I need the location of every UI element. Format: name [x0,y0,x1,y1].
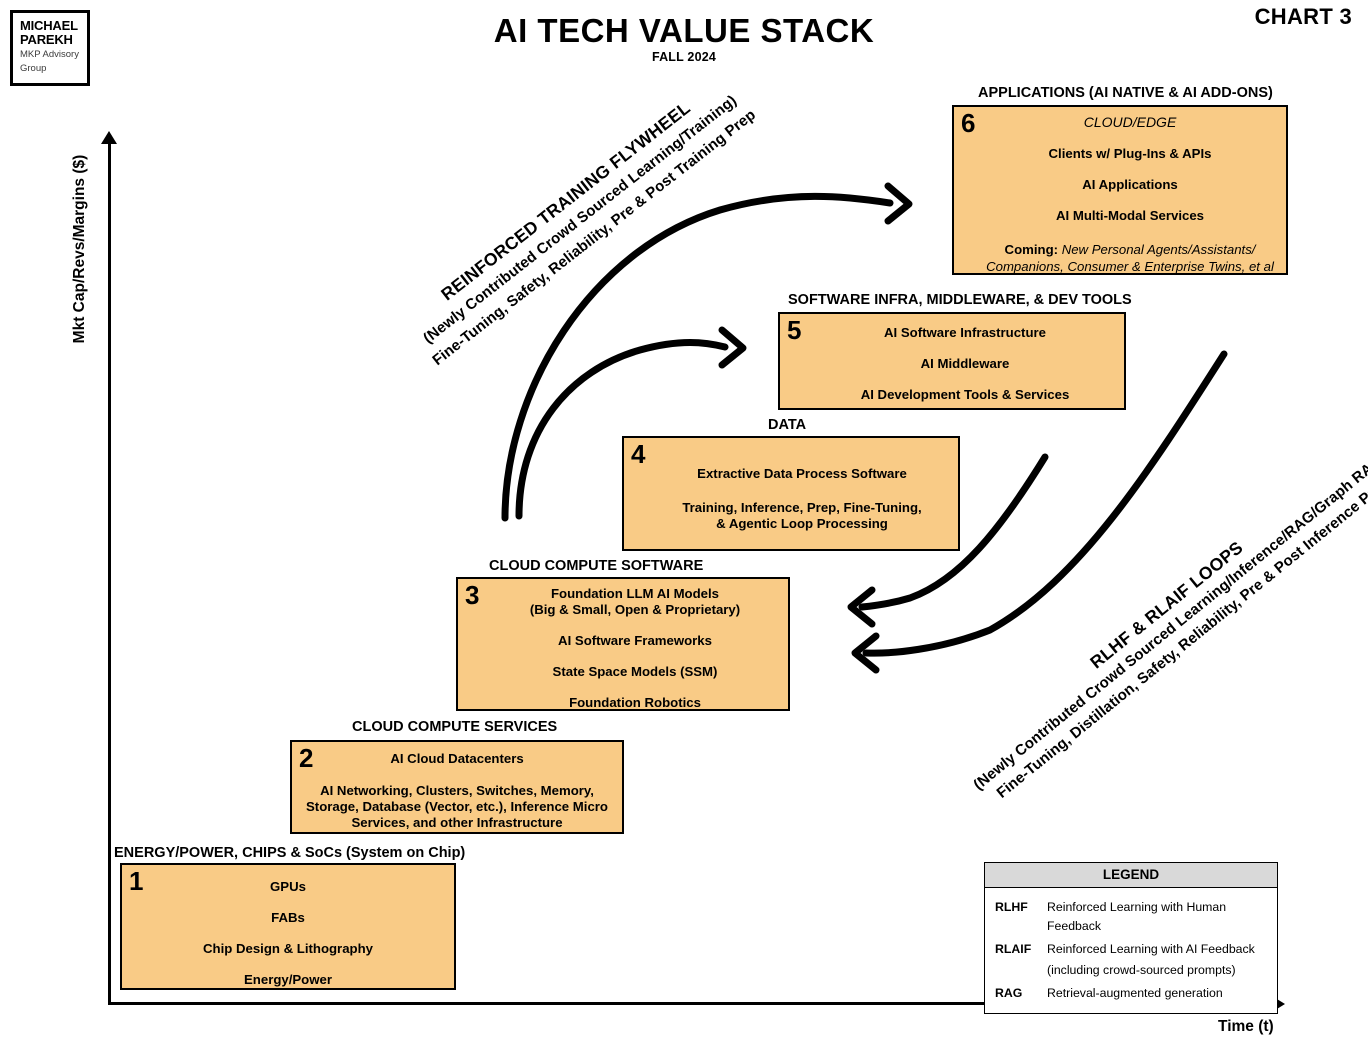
layer-2-item-2: Storage, Database (Vector, etc.), Infere… [292,799,622,815]
legend-title: LEGEND [985,863,1277,888]
layer-1-caption: ENERGY/POWER, CHIPS & SoCs (System on Ch… [114,845,465,861]
layer-6-coming-text-1: New Personal Agents/Assistants/ [1062,242,1256,257]
layer-2-item-3: Services, and other Infrastructure [292,815,622,831]
layer-6-item-2: AI Applications [974,177,1286,193]
rlhf-arrow-upper-head [851,590,872,624]
legend-row-rlaif: RLAIF Reinforced Learning with AI Feedba… [985,938,1277,961]
layer-4-item-1: Training, Inference, Prep, Fine-Tuning, [646,500,958,516]
legend-abbr-rlaif: RLAIF [995,940,1047,959]
layer-4-item-2: & Agentic Loop Processing [646,516,958,532]
layer-3-item-3: State Space Models (SSM) [482,664,788,680]
layer-1-item-0: GPUs [122,879,454,895]
flywheel-annotation: REINFORCED TRAINING FLYWHEEL (Newly Cont… [338,20,822,419]
layer-3-item-0: Foundation LLM AI Models [482,586,788,602]
rlhf-line-1: RLHF & RLAIF LOOPS [943,421,1368,790]
layer-6-box[interactable]: 6 CLOUD/EDGE Clients w/ Plug-Ins & APIs … [952,105,1288,275]
layer-4-box[interactable]: 4 Extractive Data Process Software Train… [622,436,960,551]
layer-4-caption: DATA [768,417,806,433]
flywheel-line-1: REINFORCED TRAINING FLYWHEEL [338,20,793,383]
legend-abbr-rag: RAG [995,984,1047,1003]
layer-4-item-0: Extractive Data Process Software [646,466,958,482]
layer-1-item-3: Energy/Power [122,972,454,988]
layer-5-item-1: AI Middleware [806,356,1124,372]
layer-6-item-3: AI Multi-Modal Services [974,208,1286,224]
layer-6-coming-label: Coming: [1005,242,1058,257]
legend-row-rag: RAG Retrieval-augmented generation [985,982,1277,1005]
y-axis-arrow-icon [101,131,117,144]
page-title: AI TECH VALUE STACK [0,12,1368,50]
layer-6-item-0: CLOUD/EDGE [974,114,1286,130]
layer-1-item-2: Chip Design & Lithography [122,941,454,957]
layer-2-item-0: AI Cloud Datacenters [292,751,622,767]
chart-number: CHART 3 [1255,4,1352,30]
layer-1-item-1: FABs [122,910,454,926]
layer-3-item-4: Foundation Robotics [482,695,788,711]
layer-2-caption: CLOUD COMPUTE SERVICES [352,719,557,735]
layer-2-item-1: AI Networking, Clusters, Switches, Memor… [292,783,622,799]
flywheel-arrow-upper-head [888,186,909,221]
layer-6-item-1: Clients w/ Plug-Ins & APIs [974,146,1286,162]
legend-desc-rlhf: Reinforced Learning with Human Feedback [1047,898,1277,936]
layer-6-coming-text-2: Companions, Consumer & Enterprise Twins,… [974,258,1286,275]
x-axis-label: Time (t) [1218,1018,1274,1036]
rlhf-annotation: RLHF & RLAIF LOOPS (Newly Contributed Cr… [943,421,1368,822]
legend-subdesc-rlaif: (including crowd-sourced prompts) [985,961,1277,982]
flywheel-line-3: Fine-Tuning, Safety, Reliability, Pre & … [366,56,821,419]
y-axis-line [108,140,111,1005]
layer-3-item-1: (Big & Small, Open & Proprietary) [482,602,788,618]
legend-abbr-rlhf: RLHF [995,898,1047,936]
legend-desc-rlaif: Reinforced Learning with AI Feedback [1047,940,1277,959]
layer-1-box[interactable]: 1 GPUs FABs Chip Design & Lithography En… [120,863,456,990]
legend-row-rlhf: RLHF Reinforced Learning with Human Feed… [985,896,1277,938]
layer-4-number: 4 [631,439,645,469]
layer-5-box[interactable]: 5 AI Software Infrastructure AI Middlewa… [778,312,1126,410]
legend-desc-rag: Retrieval-augmented generation [1047,984,1277,1003]
y-axis-label: Mkt Cap/Revs/Margins ($) [71,109,89,389]
page-subtitle: FALL 2024 [0,50,1368,64]
layer-3-caption: CLOUD COMPUTE SOFTWARE [489,558,703,574]
rlhf-arrow-lower-head [855,636,876,670]
legend-panel: LEGEND RLHF Reinforced Learning with Hum… [984,862,1278,1014]
flywheel-arrow-lower-head [722,330,743,365]
layer-3-item-2: AI Software Frameworks [482,633,788,649]
layer-5-caption: SOFTWARE INFRA, MIDDLEWARE, & DEV TOOLS [788,292,1132,308]
logo-line-4: Group [20,63,87,74]
layer-3-box[interactable]: 3 Foundation LLM AI Models (Big & Small,… [456,577,790,711]
layer-6-caption: APPLICATIONS (AI NATIVE & AI ADD-ONS) [978,85,1273,101]
layer-5-item-2: AI Development Tools & Services [806,387,1124,403]
layer-2-box[interactable]: 2 AI Cloud Datacenters AI Networking, Cl… [290,740,624,834]
layer-5-item-0: AI Software Infrastructure [806,325,1124,341]
flywheel-line-2: (Newly Contributed Crowd Sourced Learnin… [352,38,807,401]
